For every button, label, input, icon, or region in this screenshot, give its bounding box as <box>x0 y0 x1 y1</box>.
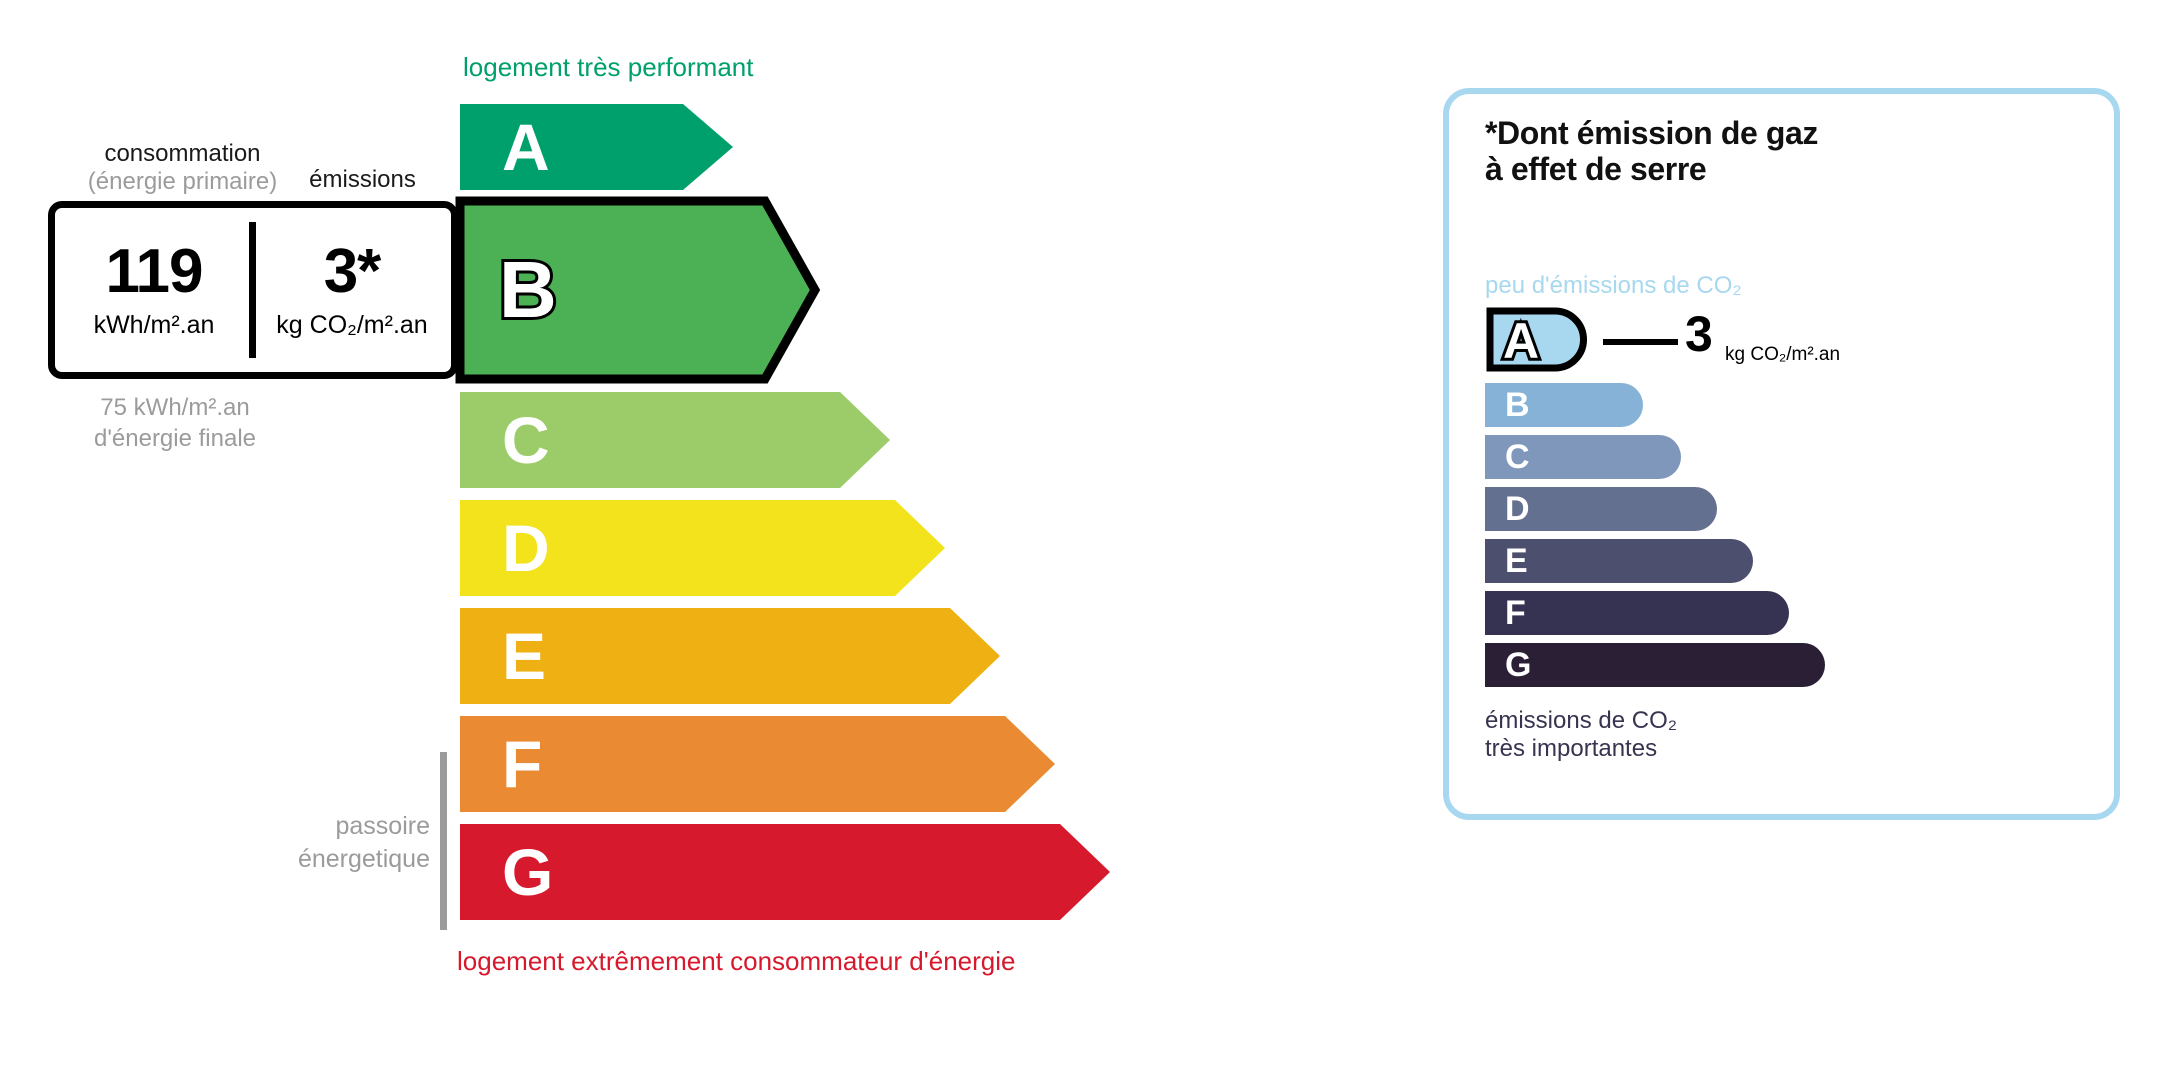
ges-bar-letter-b: B <box>1505 388 1530 422</box>
energy-bar-letter-a: A <box>502 114 550 180</box>
energy-bar-shape-f <box>460 716 1055 812</box>
ges-value-unit: kg CO₂/m².an <box>1725 344 1840 366</box>
passoire-bracket <box>440 752 447 930</box>
energy-bar-letter-c: C <box>502 407 550 473</box>
ges-value: 3 <box>1685 309 1713 359</box>
value-box: 119 kWh/m².an 3* kg CO₂/m².an <box>48 201 458 379</box>
energy-bar-letter-e: E <box>502 623 546 689</box>
energy-bar-letter-d: D <box>502 515 550 581</box>
energy-bar-d: D <box>460 500 945 596</box>
energy-bar-shape-a <box>460 104 733 190</box>
consumption-value: 119 <box>105 241 202 303</box>
ges-bar-g: G <box>1485 643 1825 687</box>
ges-bar-letter-d: D <box>1505 492 1530 526</box>
ges-selected-letter: A <box>1503 313 1539 369</box>
energy-bar-b: B <box>455 196 820 384</box>
energy-bar-letter-g: G <box>502 839 553 905</box>
ges-bar-a-selected: A3kg CO₂/m².an <box>1485 306 2105 373</box>
ges-bar-letter-f: F <box>1505 596 1526 630</box>
ges-bar-f: F <box>1485 591 1789 635</box>
emissions-value-cell: 3* kg CO₂/m².an <box>253 208 451 372</box>
energy-bar-shape-g <box>460 824 1110 920</box>
ges-bar-e: E <box>1485 539 1753 583</box>
ges-bar-list: A3kg CO₂/m².anBCDEFG <box>1485 306 2105 695</box>
consumption-unit: kWh/m².an <box>94 311 215 340</box>
ges-title-line2: à effet de serre <box>1485 152 1818 188</box>
energy-bar-letter-f: F <box>502 731 542 797</box>
emissions-value: 3* <box>324 241 381 303</box>
ges-bar-letter-c: C <box>1505 440 1530 474</box>
energy-bar-f: F <box>460 716 1055 812</box>
ges-panel-title: *Dont émission de gaz à effet de serre <box>1485 116 1818 188</box>
energy-bar-g: G <box>460 824 1110 920</box>
ges-panel: *Dont émission de gaz à effet de serre p… <box>1443 88 2120 820</box>
energy-bar-letter-b: B <box>499 250 557 330</box>
ges-selected-badge: A <box>1485 306 1591 373</box>
ges-top-caption: peu d'émissions de CO₂ <box>1485 272 1742 300</box>
energy-bar-e: E <box>460 608 1000 704</box>
ges-bar-c: C <box>1485 435 1681 479</box>
ges-value-connector <box>1603 339 1678 345</box>
ges-bottom-caption-line2: très importantes <box>1485 735 1677 763</box>
energy-bottom-caption: logement extrêmement consommateur d'éner… <box>457 946 1015 977</box>
ges-bar-letter-e: E <box>1505 544 1528 578</box>
ges-bar-letter-g: G <box>1505 648 1531 682</box>
ges-title-line1: *Dont émission de gaz <box>1485 116 1818 152</box>
energy-bar-c: C <box>460 392 890 488</box>
ges-bottom-caption-line1: émissions de CO₂ <box>1485 707 1677 735</box>
ges-bar-d: D <box>1485 487 1717 531</box>
ges-bottom-caption: émissions de CO₂ très importantes <box>1485 707 1677 763</box>
consumption-value-cell: 119 kWh/m².an <box>55 208 253 372</box>
energy-performance-scale: logement très performant consommation (é… <box>0 0 1330 1079</box>
dpe-energy-label-figure: logement très performant consommation (é… <box>0 0 2169 1079</box>
energy-bar-list: ABCDEFG <box>0 0 1330 1079</box>
energy-bar-a: A <box>460 104 733 190</box>
emissions-unit: kg CO₂/m².an <box>276 311 427 340</box>
ges-bar-b: B <box>1485 383 1643 427</box>
